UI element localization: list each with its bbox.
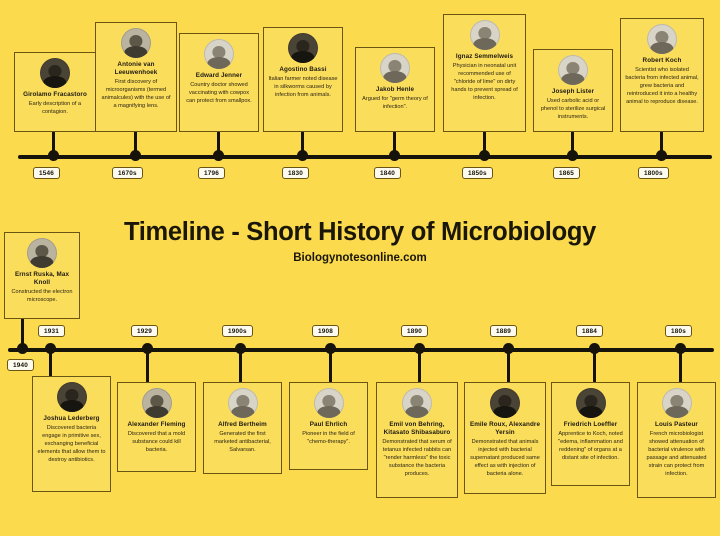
timeline-card-robert-koch[interactable]: Robert Koch Scientist who isolated bacte… xyxy=(620,18,704,132)
top-node-7 xyxy=(567,150,578,161)
card-name: Antonie van Leeuwenhoek xyxy=(100,61,172,77)
top-date-3[interactable]: 1796 xyxy=(198,167,225,179)
portrait-louis-pasteur xyxy=(662,388,692,418)
timeline-card-alexander-fleming[interactable]: Alexander Fleming Discovered that a mold… xyxy=(117,382,196,472)
top-date-8[interactable]: 1800s xyxy=(638,167,669,179)
page-title: Timeline - Short History of Microbiology xyxy=(0,218,720,247)
portrait-ernst-ruska-max-knoll xyxy=(27,238,57,268)
timeline-card-joshua-lederberg[interactable]: Joshua Lederberg Discovered bacteria eng… xyxy=(32,376,111,492)
card-description: Italian farmer noted disease in silkworm… xyxy=(268,76,338,100)
card-name: Joshua Lederberg xyxy=(43,415,99,423)
bottom-date-3[interactable]: 1900s xyxy=(222,325,253,337)
top-node-6 xyxy=(479,150,490,161)
card-description: Discovered that a mold substance could k… xyxy=(122,431,191,455)
card-description: Generated the first marketed antibacteri… xyxy=(208,431,277,455)
timeline-card-edward-jenner[interactable]: Edward Jenner Country doctor showed vacc… xyxy=(179,33,259,132)
bottom-date-2[interactable]: 1929 xyxy=(131,325,158,337)
timeline-card-girolamo-fracastoro[interactable]: Girolamo Fracastoro Early description of… xyxy=(14,52,96,132)
card-name: Joseph Lister xyxy=(552,88,594,96)
card-name: Louis Pasteur xyxy=(655,421,698,429)
bottom-date-7[interactable]: 1884 xyxy=(576,325,603,337)
top-node-1 xyxy=(48,150,59,161)
bottom-stem-4 xyxy=(329,348,332,382)
card-description: Scientist who isolated bacteria from inf… xyxy=(625,67,699,107)
timeline-card-paul-ehrlich[interactable]: Paul Ehrlich Pioneer in the field of "ch… xyxy=(289,382,368,470)
bottom-date-6[interactable]: 1889 xyxy=(490,325,517,337)
portrait-alfred-bertheim xyxy=(228,388,258,418)
card-name: Robert Koch xyxy=(643,57,682,65)
top-date-7[interactable]: 1865 xyxy=(553,167,580,179)
bottom-date-start[interactable]: 1940 xyxy=(7,359,34,371)
timeline-card-joseph-lister[interactable]: Joseph Lister Used carbolic acid or phen… xyxy=(533,49,613,132)
timeline-card-emil-von-behring[interactable]: Emil von Behring, Kitasato Shibasaburo D… xyxy=(376,382,458,498)
bottom-stem-6 xyxy=(507,348,510,382)
card-name: Ignaz Semmelweis xyxy=(456,53,513,61)
timeline-card-jakob-henle[interactable]: Jakob Henle Argued for "germ theory of i… xyxy=(355,47,435,132)
card-name: Ernst Ruska, Max Knoll xyxy=(9,271,75,287)
portrait-joseph-lister xyxy=(558,55,588,85)
card-description: Argued for "germ theory of infection". xyxy=(360,96,430,112)
top-node-5 xyxy=(389,150,400,161)
timeline-infographic: Girolamo Fracastoro Early description of… xyxy=(0,0,720,536)
timeline-card-emile-roux-alexandre-yersin[interactable]: Emile Roux, Alexandre Yersin Demonstrate… xyxy=(464,382,546,494)
top-date-1[interactable]: 1546 xyxy=(33,167,60,179)
bottom-timeline-axis xyxy=(8,348,714,352)
card-description: Physician in neonatal unit recommended u… xyxy=(448,63,521,103)
card-description: French microbiologist showed attenuation… xyxy=(642,431,711,479)
timeline-card-ernst-ruska-max-knoll[interactable]: Ernst Ruska, Max Knoll Constructed the e… xyxy=(4,232,80,319)
timeline-card-agostino-bassi[interactable]: Agostino Bassi Italian farmer noted dise… xyxy=(263,27,343,132)
timeline-card-ignaz-semmelweis[interactable]: Ignaz Semmelweis Physician in neonatal u… xyxy=(443,14,526,132)
card-description: Country doctor showed vaccinating with c… xyxy=(184,82,254,106)
bottom-date-5[interactable]: 1890 xyxy=(401,325,428,337)
portrait-edward-jenner xyxy=(204,39,234,69)
card-name: Emile Roux, Alexandre Yersin xyxy=(469,421,541,437)
portrait-girolamo-fracastoro xyxy=(40,58,70,88)
card-description: Discovered bacteria engage in primitive … xyxy=(37,425,106,465)
card-description: Constructed the electron microscope. xyxy=(9,289,75,305)
card-name: Girolamo Fracastoro xyxy=(23,91,87,99)
bottom-date-8[interactable]: 180s xyxy=(665,325,692,337)
top-node-4 xyxy=(297,150,308,161)
card-name: Jakob Henle xyxy=(376,86,414,94)
card-description: Apprentice to Koch, noted "edema, inflam… xyxy=(556,431,625,463)
top-date-5[interactable]: 1840 xyxy=(374,167,401,179)
card-name: Alexander Fleming xyxy=(127,421,185,429)
card-name: Paul Ehrlich xyxy=(310,421,348,429)
top-date-2[interactable]: 1670s xyxy=(112,167,143,179)
top-node-2 xyxy=(130,150,141,161)
bottom-date-4[interactable]: 1908 xyxy=(312,325,339,337)
bottom-stem-5 xyxy=(418,348,421,382)
card-name: Emil von Behring, Kitasato Shibasaburo xyxy=(381,421,453,437)
bottom-stem-1931 xyxy=(49,348,52,376)
bottom-stem-3 xyxy=(239,348,242,382)
bottom-stem-7 xyxy=(593,348,596,382)
card-name: Edward Jenner xyxy=(196,72,242,80)
bottom-date-1931[interactable]: 1931 xyxy=(38,325,65,337)
title-block: Timeline - Short History of Microbiology… xyxy=(0,218,720,264)
portrait-ignaz-semmelweis xyxy=(470,20,500,50)
card-name: Friedrich Loeffler xyxy=(564,421,618,429)
bottom-stem-8 xyxy=(679,348,682,382)
portrait-alexander-fleming xyxy=(142,388,172,418)
top-timeline-axis xyxy=(18,155,712,159)
timeline-card-louis-pasteur[interactable]: Louis Pasteur French microbiologist show… xyxy=(637,382,716,498)
portrait-paul-ehrlich xyxy=(314,388,344,418)
top-node-8 xyxy=(656,150,667,161)
portrait-friedrich-loeffler xyxy=(576,388,606,418)
bottom-stem-2 xyxy=(146,348,149,382)
portrait-emile-roux-alexandre-yersin xyxy=(490,388,520,418)
portrait-antonie-van-leeuwenhoek xyxy=(121,28,151,58)
portrait-emil-von-behring xyxy=(402,388,432,418)
portrait-robert-koch xyxy=(647,24,677,54)
card-description: Used carbolic acid or phenol to steriliz… xyxy=(538,98,608,122)
timeline-card-friedrich-loeffler[interactable]: Friedrich Loeffler Apprentice to Koch, n… xyxy=(551,382,630,486)
card-name: Alfred Bertheim xyxy=(218,421,267,429)
card-description: Demonstrated that animals injected with … xyxy=(469,439,541,479)
timeline-card-alfred-bertheim[interactable]: Alfred Bertheim Generated the first mark… xyxy=(203,382,282,474)
timeline-card-antonie-van-leeuwenhoek[interactable]: Antonie van Leeuwenhoek First discovery … xyxy=(95,22,177,132)
card-description: Early description of a contagion. xyxy=(19,101,91,117)
portrait-joshua-lederberg xyxy=(57,382,87,412)
card-description: First discovery of microorganisms (terme… xyxy=(100,79,172,111)
top-date-6[interactable]: 1850s xyxy=(462,167,493,179)
top-node-3 xyxy=(213,150,224,161)
portrait-agostino-bassi xyxy=(288,33,318,63)
page-subtitle: Biologynotesonline.com xyxy=(0,252,720,264)
card-description: Pioneer in the field of "chemo-therapy". xyxy=(294,431,363,447)
top-date-4[interactable]: 1830 xyxy=(282,167,309,179)
card-name: Agostino Bassi xyxy=(279,66,326,74)
card-description: Demonstrated that serum of tetanus infec… xyxy=(381,439,453,479)
bottom-node-start xyxy=(17,343,28,354)
portrait-jakob-henle xyxy=(380,53,410,83)
